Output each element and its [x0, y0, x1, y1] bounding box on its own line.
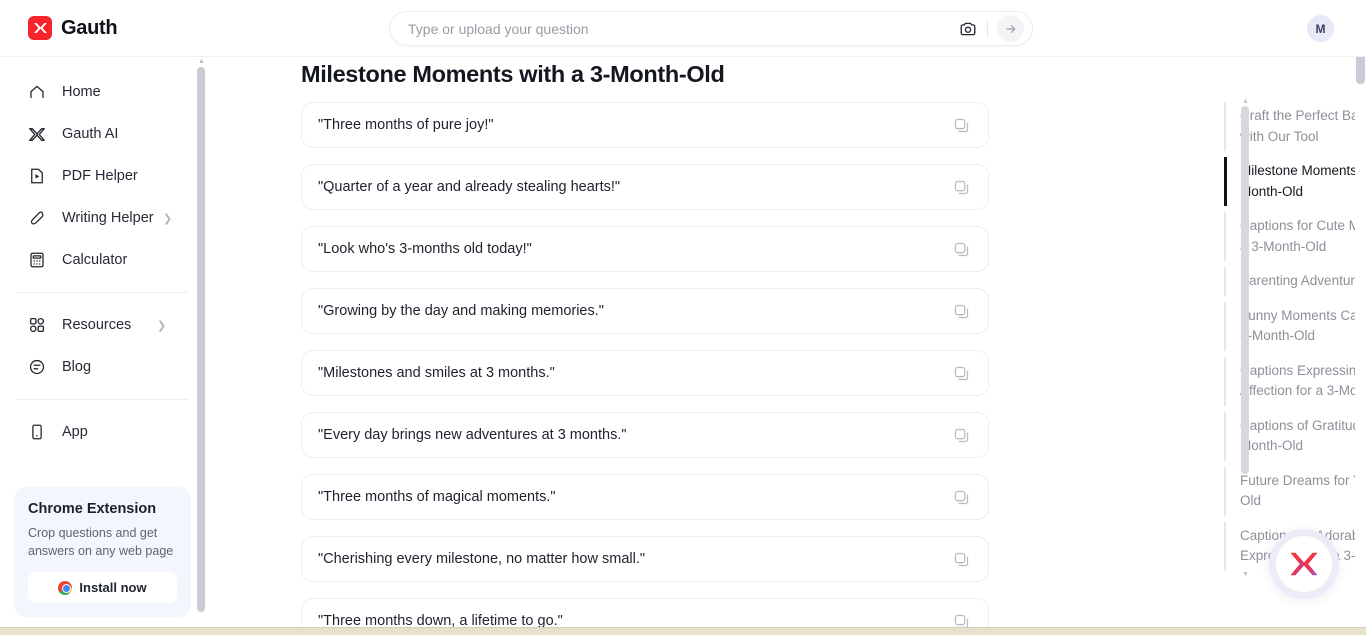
toc-scrollbar-thumb[interactable]	[1241, 106, 1249, 474]
sidebar-item-app[interactable]: App	[0, 411, 204, 453]
page-title: Milestone Moments with a 3-Month-Old	[301, 61, 724, 88]
scroll-down-arrow-icon[interactable]: ▼	[1242, 571, 1249, 578]
caption-card[interactable]: "Cherishing every milestone, no matter h…	[301, 536, 989, 582]
sidebar-item-gauth-ai[interactable]: Gauth AI	[0, 113, 204, 155]
sidebar-item-writing-helper[interactable]: Writing Helper ❯	[0, 197, 204, 239]
app-header: Gauth M	[0, 0, 1366, 57]
pdf-helper-icon	[28, 167, 46, 185]
pen-icon	[28, 209, 46, 227]
gauth-logo-icon	[28, 16, 52, 40]
caption-card[interactable]: "Milestones and smiles at 3 months."	[301, 350, 989, 396]
caption-text: "Look who's 3-months old today!"	[318, 241, 953, 257]
copy-icon[interactable]	[953, 489, 970, 506]
sidebar-item-label: Blog	[62, 359, 91, 375]
sidebar-item-pdf-helper[interactable]: PDF Helper	[0, 155, 204, 197]
grid-squares-icon	[28, 316, 46, 334]
caption-card[interactable]: "Every day brings new adventures at 3 mo…	[301, 412, 989, 458]
sidebar-nav: Home Gauth AI PDF Helper	[0, 57, 204, 453]
caption-text: "Milestones and smiles at 3 months."	[318, 365, 953, 381]
search-box[interactable]	[389, 11, 1033, 46]
camera-icon[interactable]	[956, 17, 980, 41]
sidebar-item-home[interactable]: Home	[0, 71, 204, 113]
caption-list: "Three months of pure joy!" "Quarter of …	[301, 102, 989, 635]
sidebar-divider-2	[16, 399, 188, 400]
toc-scrollbar[interactable]: ▲ ▼	[1241, 98, 1250, 578]
promo-title: Chrome Extension	[28, 501, 177, 517]
caption-text: "Every day brings new adventures at 3 mo…	[318, 427, 953, 443]
sidebar-item-label: Writing Helper	[62, 210, 154, 226]
calculator-icon	[28, 251, 46, 269]
caption-text: "Growing by the day and making memories.…	[318, 303, 953, 319]
copy-icon[interactable]	[953, 179, 970, 196]
home-icon	[28, 83, 46, 101]
brand-name: Gauth	[61, 17, 117, 40]
copy-icon[interactable]	[953, 303, 970, 320]
gauth-ai-icon	[28, 125, 46, 143]
caption-text: "Quarter of a year and already stealing …	[318, 179, 953, 195]
sidebar-item-label: PDF Helper	[62, 168, 138, 184]
sidebar-item-label: Resources	[62, 317, 131, 333]
search-area	[389, 11, 1033, 46]
copy-icon[interactable]	[953, 427, 970, 444]
copy-icon[interactable]	[953, 365, 970, 382]
copy-icon[interactable]	[953, 551, 970, 568]
copy-icon[interactable]	[953, 241, 970, 258]
chrome-extension-promo: Chrome Extension Crop questions and get …	[14, 487, 191, 617]
brand-logo[interactable]: Gauth	[28, 16, 117, 40]
avatar[interactable]: M	[1307, 15, 1334, 42]
chevron-right-icon: ❯	[163, 212, 172, 225]
install-now-button[interactable]: Install now	[28, 572, 177, 603]
install-now-label: Install now	[79, 580, 146, 595]
caption-text: "Three months of magical moments."	[318, 489, 953, 505]
sidebar-item-resources[interactable]: Resources ❯	[0, 304, 204, 346]
sidebar-item-label: App	[62, 424, 88, 440]
page-scrollbar[interactable]	[1355, 0, 1366, 635]
gauth-chat-icon	[1288, 551, 1320, 577]
caption-text: "Cherishing every milestone, no matter h…	[318, 551, 953, 567]
sidebar-item-label: Home	[62, 84, 101, 100]
avatar-initial: M	[1316, 22, 1326, 36]
main-content: Milestone Moments with a 3-Month-Old "Th…	[206, 57, 1355, 635]
sidebar-item-calculator[interactable]: Calculator	[0, 239, 204, 281]
chevron-right-icon: ❯	[157, 319, 166, 332]
sidebar-scrollbar[interactable]: ▲ ▼	[195, 57, 206, 635]
sidebar-divider-1	[16, 292, 188, 293]
caption-card[interactable]: "Three months of pure joy!"	[301, 102, 989, 148]
mobile-app-icon	[28, 423, 46, 441]
sidebar-scrollbar-thumb[interactable]	[197, 67, 205, 612]
promo-description: Crop questions and get answers on any we…	[28, 524, 177, 560]
blog-icon	[28, 358, 46, 376]
caption-card[interactable]: "Look who's 3-months old today!"	[301, 226, 989, 272]
scroll-up-arrow-icon[interactable]: ▲	[1242, 98, 1249, 105]
search-divider	[987, 20, 988, 37]
caption-text: "Three months of pure joy!"	[318, 117, 953, 133]
sidebar-item-label: Gauth AI	[62, 126, 118, 142]
search-input[interactable]	[408, 21, 956, 37]
scroll-up-arrow-icon[interactable]: ▲	[198, 58, 205, 65]
sidebar: Home Gauth AI PDF Helper	[0, 57, 205, 635]
sidebar-item-label: Calculator	[62, 252, 127, 268]
chrome-icon	[58, 581, 72, 595]
search-submit-button[interactable]	[997, 15, 1024, 42]
copy-icon[interactable]	[953, 117, 970, 134]
caption-card[interactable]: "Growing by the day and making memories.…	[301, 288, 989, 334]
caption-card[interactable]: "Quarter of a year and already stealing …	[301, 164, 989, 210]
caption-card[interactable]: "Three months of magical moments."	[301, 474, 989, 520]
bottom-strip	[0, 627, 1366, 635]
sidebar-item-blog[interactable]: Blog	[0, 346, 204, 388]
gauth-chat-fab[interactable]	[1269, 529, 1339, 599]
